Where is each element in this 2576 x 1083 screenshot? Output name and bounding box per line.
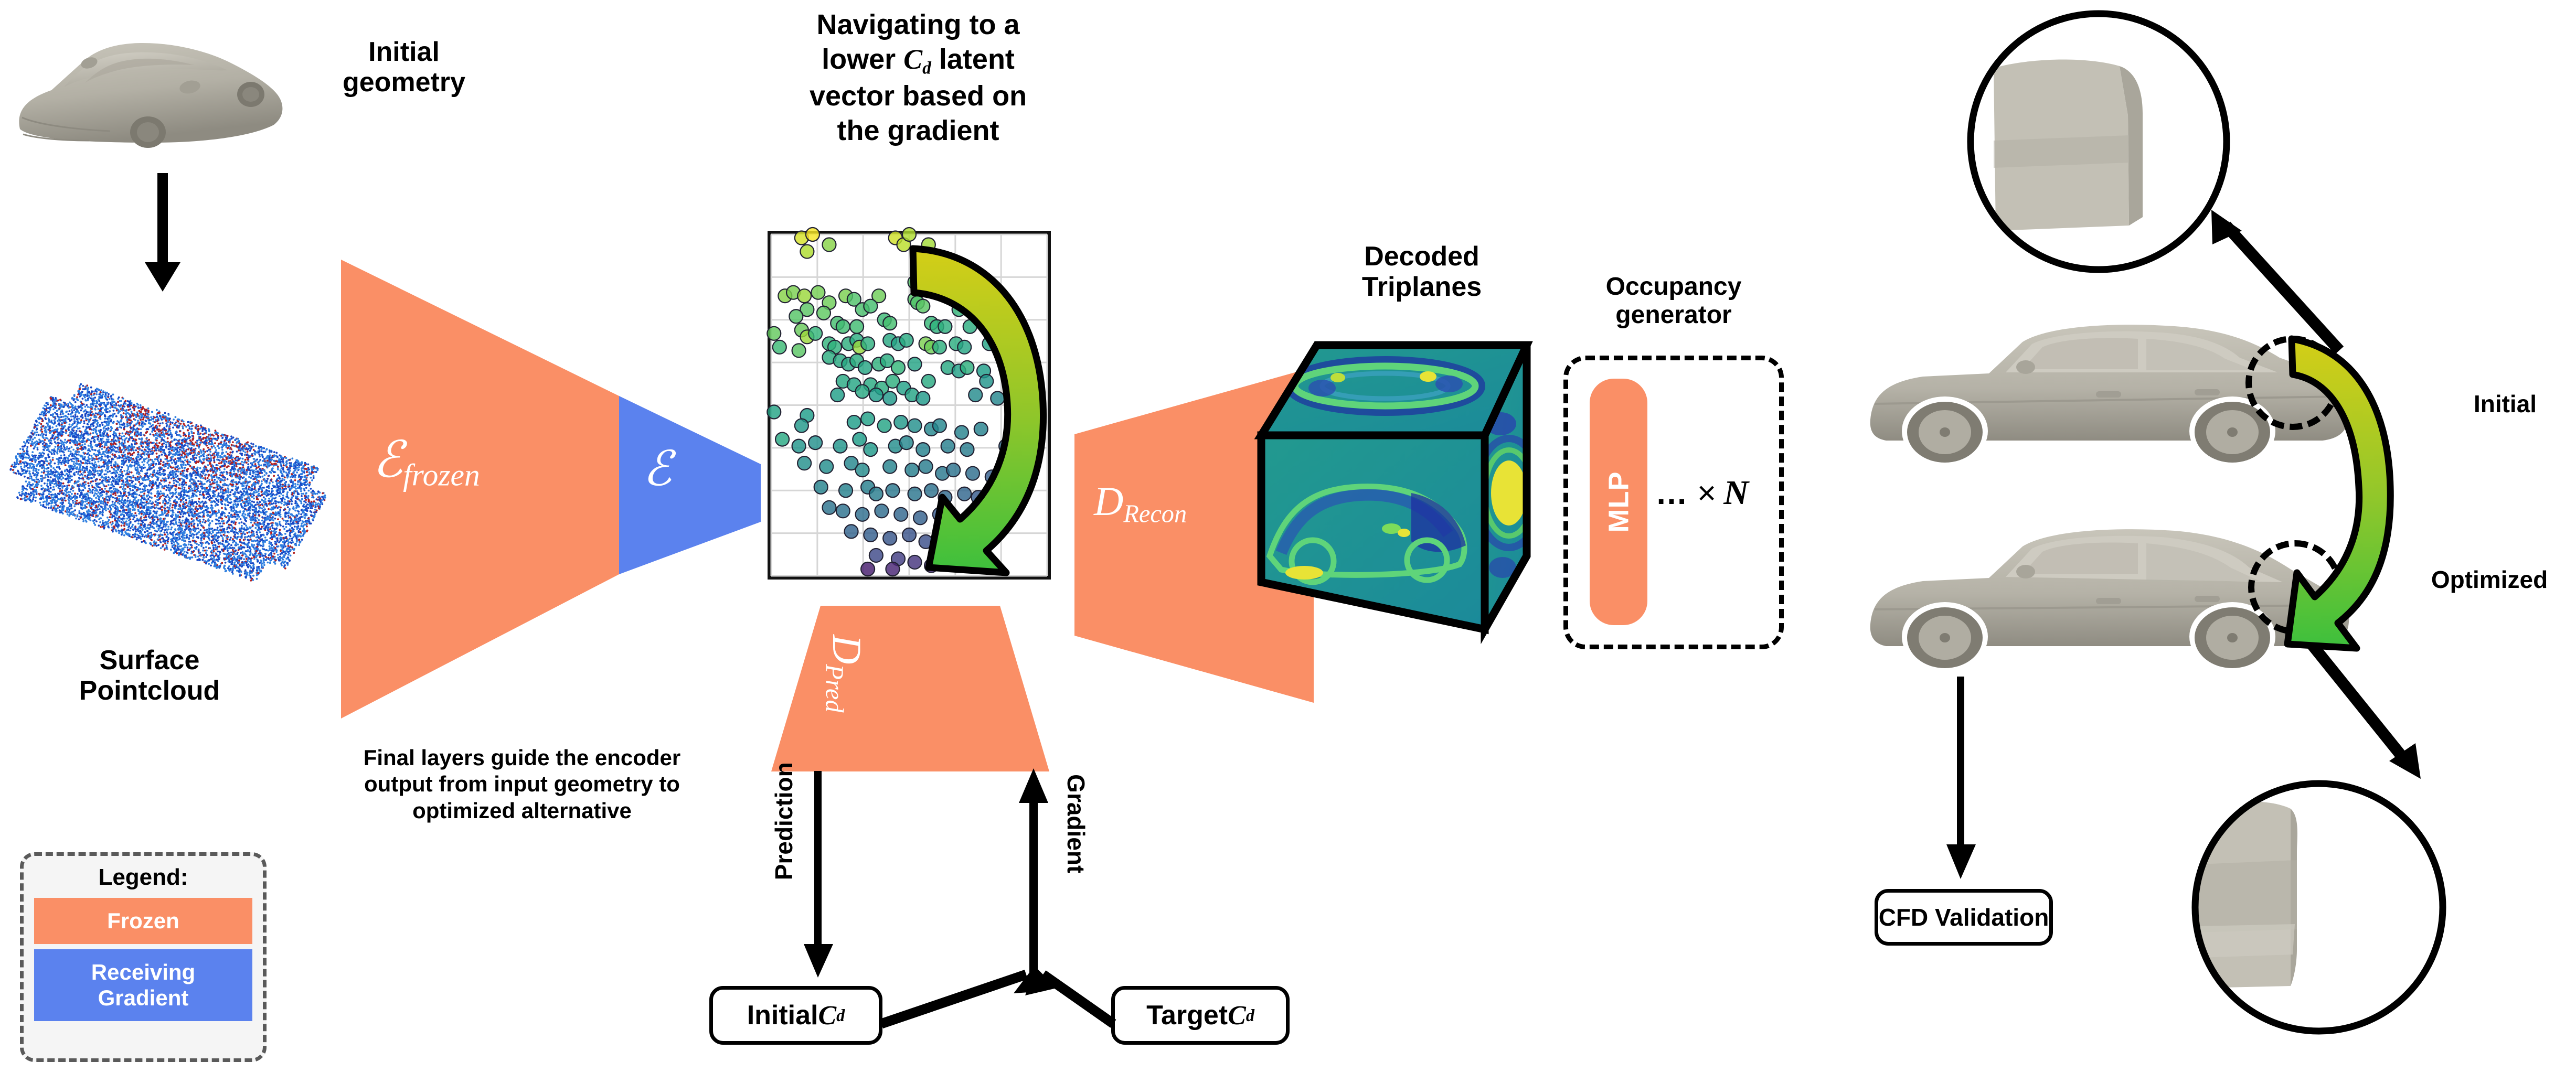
legend-item-frozen: Frozen [34,898,252,944]
prediction-label: Prediction [771,743,798,900]
latent-title-line2: lower Cd latent [755,42,1081,79]
legend-item-gradient-line2: Gradient [38,985,248,1011]
repeat-n: N [1723,473,1749,513]
occupancy-label-line2: generator [1553,301,1794,329]
gradient-label: Gradient [1062,745,1089,903]
triplanes-label: Decoded Triplanes [1301,241,1542,302]
encoder-caption-line3: optimized alternative [315,798,729,824]
cd-merge-arrows [876,963,1117,1031]
latent-title-line4: the gradient [755,114,1081,148]
initial-geometry-line1: Initial [315,37,493,67]
prediction-arrow [797,771,839,981]
surface-pointcloud-line1: Surface [29,645,270,675]
triplanes-label-line1: Decoded [1301,241,1542,272]
initial-geometry-label: Initial geometry [315,37,493,98]
target-cd-symbol: C [1228,1000,1246,1031]
legend: Legend: Frozen Receiving Gradient [20,852,267,1062]
latent-cd-symbol: C [903,44,922,75]
latent-title-line2-post: latent [931,44,1015,75]
result-initial-label: Initial [2434,391,2576,418]
initial-geometry-render [5,5,299,163]
occupancy-label-line1: Occupancy [1553,273,1794,301]
cfd-validation-box[interactable]: CFD Validation [1875,889,2053,946]
gradient-arrow [1013,768,1055,983]
triplanes-label-line2: Triplanes [1301,272,1542,302]
repeat-dots: … [1655,475,1690,512]
encoder-caption-line2: output from input geometry to [315,771,729,797]
decoder-recon-label: DRecon [1094,477,1187,529]
result-transition-arrow [2287,336,2445,661]
occupancy-generator-label: Occupancy generator [1553,273,1794,329]
encoder-caption-line1: Final layers guide the encoder [315,745,729,771]
encoder-frozen-symbol: ℰ [372,432,403,488]
initial-cd-pre: Initial [747,1000,818,1031]
decoder-pred-subscript: Pred [820,664,848,712]
legend-item-gradient-line1: Receiving [38,960,248,985]
encoder-frozen-label: ℰfrozen [372,430,480,494]
target-cd-subscript: d [1246,1006,1254,1025]
latent-title-line3: vector based on [755,79,1081,114]
latent-cd-subscript: d [922,58,931,78]
latent-title: Navigating to a lower Cd latent vector b… [755,8,1081,148]
triplane-cube [1254,336,1553,661]
decoder-recon-subscript: Recon [1123,500,1187,528]
initial-cd-box[interactable]: Initial Cd [709,986,882,1045]
latent-title-line2-pre: lower [822,44,903,75]
decoder-pred-label: DPred [819,635,871,713]
decoder-pred-symbol: D [824,635,870,664]
encoder-frozen-subscript: frozen [403,458,480,492]
initial-cd-subscript: d [836,1006,845,1025]
initial-cd-symbol: C [818,1000,836,1031]
decoder-recon-symbol: D [1094,478,1123,524]
repeat-times-icon: × [1697,475,1716,512]
result-optimized-label: Optimized [2403,566,2576,594]
latent-title-line1: Navigating to a [755,8,1081,42]
latent-descent-arrow [908,246,1081,582]
initial-geometry-line2: geometry [315,67,493,98]
decoder-pred-block [771,606,1049,774]
geometry-to-pointcloud-arrow [131,173,194,294]
mlp-label: MLP [1602,471,1635,533]
surface-pointcloud-render [10,325,325,619]
encoder-caption: Final layers guide the encoder output fr… [315,745,729,824]
callout-circle-optimized [2188,776,2450,1038]
encoder-block [341,260,761,732]
target-cd-pre: Target [1146,1000,1228,1031]
encoder-trainable-shape [619,396,761,574]
surface-pointcloud-line2: Pointcloud [29,675,270,706]
legend-title: Legend: [34,864,252,891]
legend-item-frozen-label: Frozen [107,908,179,933]
surface-pointcloud-label: Surface Pointcloud [29,645,270,706]
legend-item-receiving-gradient: Receiving Gradient [34,949,252,1021]
encoder-trainable-label: ℰ [643,441,672,497]
target-cd-box[interactable]: Target Cd [1111,986,1290,1045]
mlp-repeat-indicator: … × N [1655,456,1776,530]
cfd-arrow [1941,677,1983,881]
mlp-block: MLP [1590,379,1647,625]
